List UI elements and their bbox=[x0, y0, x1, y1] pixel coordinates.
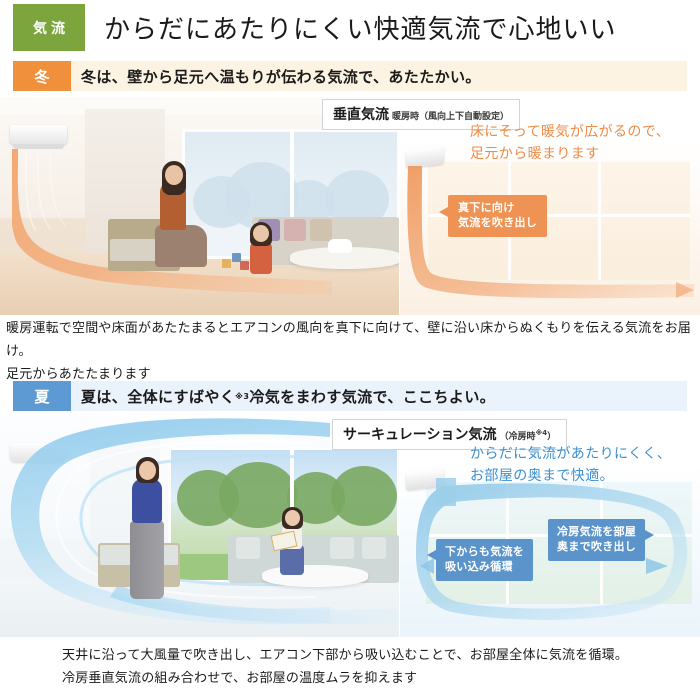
page-header: 気流 からだにあたりにくい快適気流で心地いい bbox=[0, 0, 700, 57]
winter-callout-box: 真下に向け 気流を吹き出し bbox=[448, 195, 547, 237]
winter-airflow-diagram-inset: 真下に向け 気流を吹き出し bbox=[400, 140, 700, 315]
summer-spec-sub-footnote: ※4 bbox=[535, 429, 547, 437]
winter-spec-sub: 暖房時（風向上下自動設定） bbox=[392, 112, 509, 122]
summer-overlay-line2: お部屋の奥まで快適。 bbox=[470, 466, 671, 488]
summer-callout-right-line2: 奥まで吹き出し bbox=[557, 540, 636, 555]
summer-room-scene bbox=[0, 417, 399, 637]
winter-toy-block bbox=[240, 261, 249, 270]
summer-spec-sub: （冷房時※4） bbox=[499, 432, 556, 442]
summer-headline-footnote: ※3 bbox=[235, 392, 249, 401]
section-badge-airflow: 気流 bbox=[13, 4, 85, 51]
winter-child-head bbox=[253, 225, 269, 242]
summer-callout-right: 冷房気流を部屋 奥まで吹き出し bbox=[548, 519, 645, 561]
summer-callout-left-line2: 吸い込み循環 bbox=[445, 560, 524, 575]
summer-spec-title: サーキュレーション気流 bbox=[343, 427, 496, 443]
summer-headline: 夏は、全体にすばやく※3冷気をまわす気流で、ここちよい。 bbox=[81, 381, 495, 411]
summer-caption: 天井に沿って大風量で吹き出し、エアコン下部から吸い込むことで、お部屋全体に気流を… bbox=[62, 645, 700, 691]
winter-callout-line1: 真下に向け bbox=[458, 201, 537, 216]
summer-airflow-diagram-inset: 下からも気流を 吸い込み循環 冷房気流を部屋 奥まで吹き出し bbox=[400, 462, 700, 637]
summer-headline-post: 冷気をまわす気流で、ここちよい。 bbox=[249, 386, 495, 407]
summer-headline-pre: 夏は、全体にすばやく bbox=[81, 386, 235, 407]
summer-cushion bbox=[236, 537, 260, 559]
summer-caption-line1: 天井に沿って大風量で吹き出し、エアコン下部から吸い込むことで、お部屋全体に気流を… bbox=[62, 645, 700, 668]
summer-coffee-table bbox=[262, 565, 368, 587]
summer-headline-bar: 夏 夏は、全体にすばやく※3冷気をまわす気流で、ここちよい。 bbox=[13, 381, 687, 411]
winter-caption-line1: 暖房運転で空間や床面があたたまるとエアコンの風向を真下に向けて、壁に沿い床からぬ… bbox=[6, 318, 696, 364]
winter-callout-line2: 気流を吹き出し bbox=[458, 216, 537, 231]
season-badge-summer: 夏 bbox=[13, 381, 71, 411]
summer-callout-left-line1: 下からも気流を bbox=[445, 545, 524, 560]
summer-callout-right-line1: 冷房気流を部屋 bbox=[557, 525, 636, 540]
winter-woman-head bbox=[165, 165, 183, 185]
summer-child-head bbox=[285, 510, 300, 526]
summer-woman-pants bbox=[130, 521, 164, 599]
winter-caption: 暖房運転で空間や床面があたたまるとエアコンの風向を真下に向けて、壁に沿い床からぬ… bbox=[6, 318, 696, 386]
winter-overlay-line1: 床にそって暖気が広がるので、 bbox=[470, 122, 670, 144]
summer-overlay-text: からだに気流があたりにくく、 お部屋の奥まで快適。 bbox=[470, 444, 671, 487]
summer-woman-head bbox=[139, 461, 156, 480]
winter-headline: 冬は、壁から足元へ温もりが伝わる気流で、あたたかい。 bbox=[81, 61, 481, 91]
summer-woman-top bbox=[132, 479, 162, 523]
winter-spec-title: 垂直気流 bbox=[333, 107, 389, 123]
airflow-feature-page: 気流 からだにあたりにくい快適気流で心地いい 冬 冬は、壁から足元へ温もりが伝わ… bbox=[0, 0, 700, 700]
summer-cushion bbox=[362, 537, 386, 559]
air-conditioner-unit-icon bbox=[10, 125, 67, 145]
summer-spec-sub-post: ） bbox=[547, 432, 556, 442]
winter-toy-block bbox=[222, 259, 231, 268]
summer-child-pants bbox=[280, 545, 304, 575]
winter-overlay-line2: 足元から暖まります bbox=[470, 144, 670, 166]
winter-overlay-text: 床にそって暖気が広がるので、 足元から暖まります bbox=[470, 122, 670, 165]
winter-teapot-icon bbox=[328, 239, 352, 253]
season-badge-winter: 冬 bbox=[13, 61, 71, 91]
winter-headline-bar: 冬 冬は、壁から足元へ温もりが伝わる気流で、あたたかい。 bbox=[13, 61, 687, 91]
winter-cushion bbox=[310, 219, 332, 241]
summer-spec-sub-pre: （冷房時 bbox=[499, 432, 535, 442]
summer-caption-line2: 冷房垂直気流の組み合わせで、お部屋の温度ムラを抑えます bbox=[62, 668, 700, 691]
winter-cushion bbox=[284, 219, 306, 241]
summer-callout-left: 下からも気流を 吸い込み循環 bbox=[436, 539, 533, 581]
summer-airflow-graphic bbox=[0, 417, 399, 637]
page-title: からだにあたりにくい快適気流で心地いい bbox=[104, 4, 616, 51]
summer-cushion bbox=[330, 537, 354, 559]
winter-woman-skirt bbox=[155, 225, 207, 267]
summer-overlay-line1: からだに気流があたりにくく、 bbox=[470, 444, 671, 466]
